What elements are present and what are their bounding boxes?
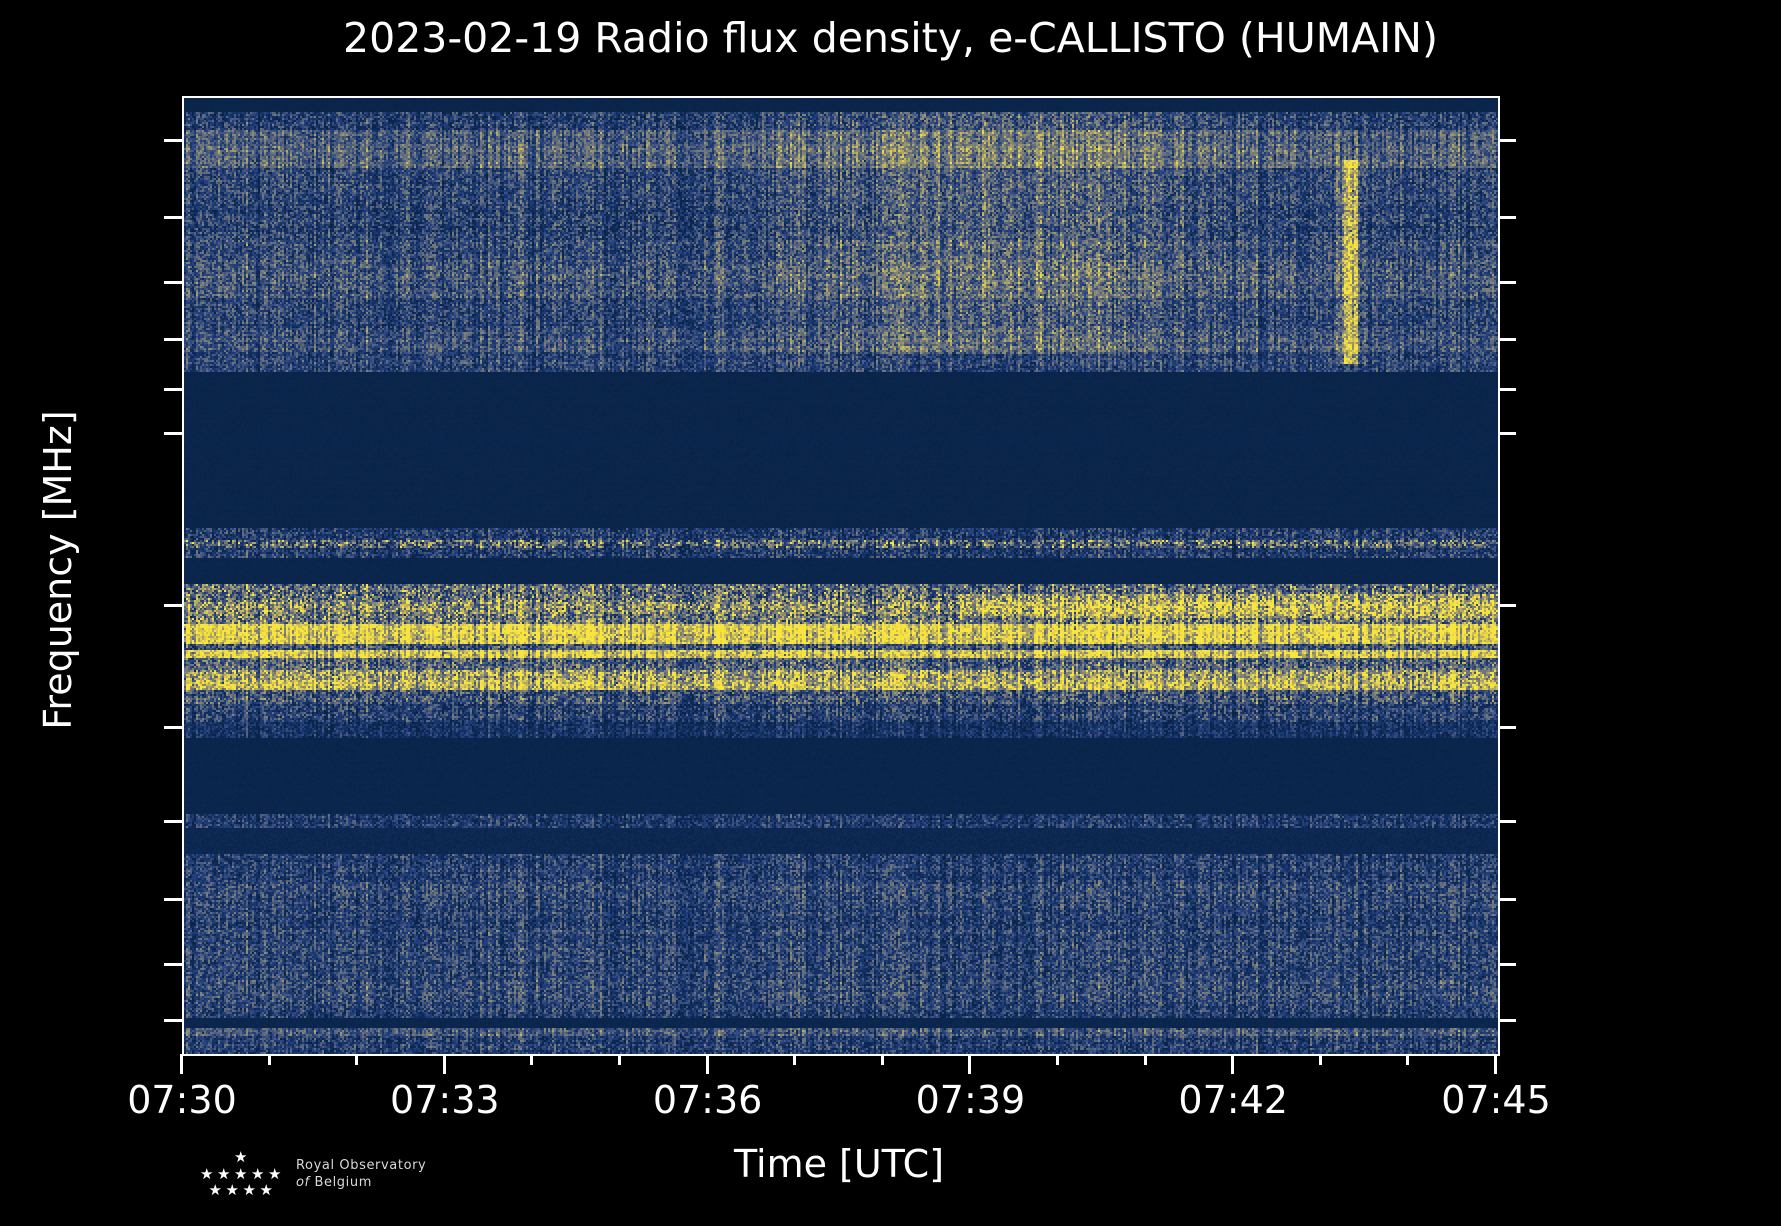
star-icon: ★	[234, 1167, 247, 1182]
y-tick-mark	[164, 820, 182, 823]
star-icon: ★	[268, 1167, 281, 1182]
y-tick-mark-right	[1498, 604, 1516, 607]
y-tick-mark	[164, 338, 182, 341]
spectrogram-image	[184, 98, 1498, 1054]
y-tick-mark-right	[1498, 338, 1516, 341]
y-tick-mark	[164, 139, 182, 142]
y-tick-mark-right	[1498, 726, 1516, 729]
x-tick-mark	[1406, 1054, 1409, 1065]
logo-of: of	[296, 1175, 310, 1190]
x-tick-mark	[881, 1054, 884, 1065]
y-tick-mark-right	[1498, 216, 1516, 219]
x-tick-mark	[268, 1054, 271, 1065]
stars-icon: ★★★★★★★★★★	[196, 1148, 284, 1200]
logo-line-2: of Belgium	[296, 1174, 426, 1191]
y-tick-mark-right	[1498, 281, 1516, 284]
x-tick-label: 07:39	[860, 1078, 1080, 1122]
y-tick-mark	[164, 726, 182, 729]
y-tick-mark	[164, 898, 182, 901]
x-tick-mark	[530, 1054, 533, 1065]
x-tick-mark	[793, 1054, 796, 1065]
x-tick-mark	[1056, 1054, 1059, 1065]
logo-text: Royal Observatory of Belgium	[296, 1157, 426, 1191]
x-tick-mark	[1231, 1054, 1234, 1074]
figure-canvas: 2023-02-19 Radio flux density, e-CALLIST…	[0, 0, 1781, 1226]
y-tick-mark	[164, 216, 182, 219]
y-tick-mark-right	[1498, 388, 1516, 391]
y-tick-mark-right	[1498, 898, 1516, 901]
x-tick-label: 07:45	[1386, 1078, 1606, 1122]
y-tick-mark-right	[1498, 432, 1516, 435]
x-tick-mark	[706, 1054, 709, 1074]
star-icon: ★	[200, 1167, 213, 1182]
page-title: 2023-02-19 Radio flux density, e-CALLIST…	[0, 14, 1781, 62]
y-tick-mark	[164, 963, 182, 966]
star-icon: ★	[217, 1167, 230, 1182]
logo-belgium: Belgium	[314, 1175, 372, 1190]
x-tick-mark	[1494, 1054, 1497, 1074]
x-tick-mark	[443, 1054, 446, 1074]
star-icon: ★	[226, 1183, 239, 1198]
x-tick-label: 07:36	[598, 1078, 818, 1122]
x-tick-mark	[968, 1054, 971, 1074]
y-tick-mark-right	[1498, 139, 1516, 142]
x-tick-mark	[1144, 1054, 1147, 1065]
y-tick-mark	[164, 604, 182, 607]
x-tick-mark	[618, 1054, 621, 1065]
x-tick-label: 07:30	[72, 1078, 292, 1122]
x-tick-label: 07:33	[335, 1078, 555, 1122]
spectrogram-axes	[182, 96, 1500, 1056]
y-tick-mark-right	[1498, 963, 1516, 966]
x-tick-mark	[1319, 1054, 1322, 1065]
star-icon: ★	[243, 1183, 256, 1198]
y-axis-label: Frequency [MHz]	[36, 92, 82, 1048]
royal-observatory-logo: ★★★★★★★★★★ Royal Observatory of Belgium	[196, 1143, 436, 1205]
y-tick-mark	[164, 281, 182, 284]
y-tick-mark-right	[1498, 820, 1516, 823]
x-tick-mark	[180, 1054, 183, 1074]
y-tick-mark	[164, 432, 182, 435]
logo-line-1: Royal Observatory	[296, 1157, 426, 1174]
star-icon: ★	[209, 1183, 222, 1198]
y-tick-mark	[164, 1019, 182, 1022]
x-tick-label: 07:42	[1123, 1078, 1343, 1122]
star-icon: ★	[234, 1150, 247, 1165]
star-icon: ★	[251, 1167, 264, 1182]
star-icon: ★	[260, 1183, 273, 1198]
y-tick-mark-right	[1498, 1019, 1516, 1022]
y-tick-mark	[164, 388, 182, 391]
x-tick-mark	[355, 1054, 358, 1065]
